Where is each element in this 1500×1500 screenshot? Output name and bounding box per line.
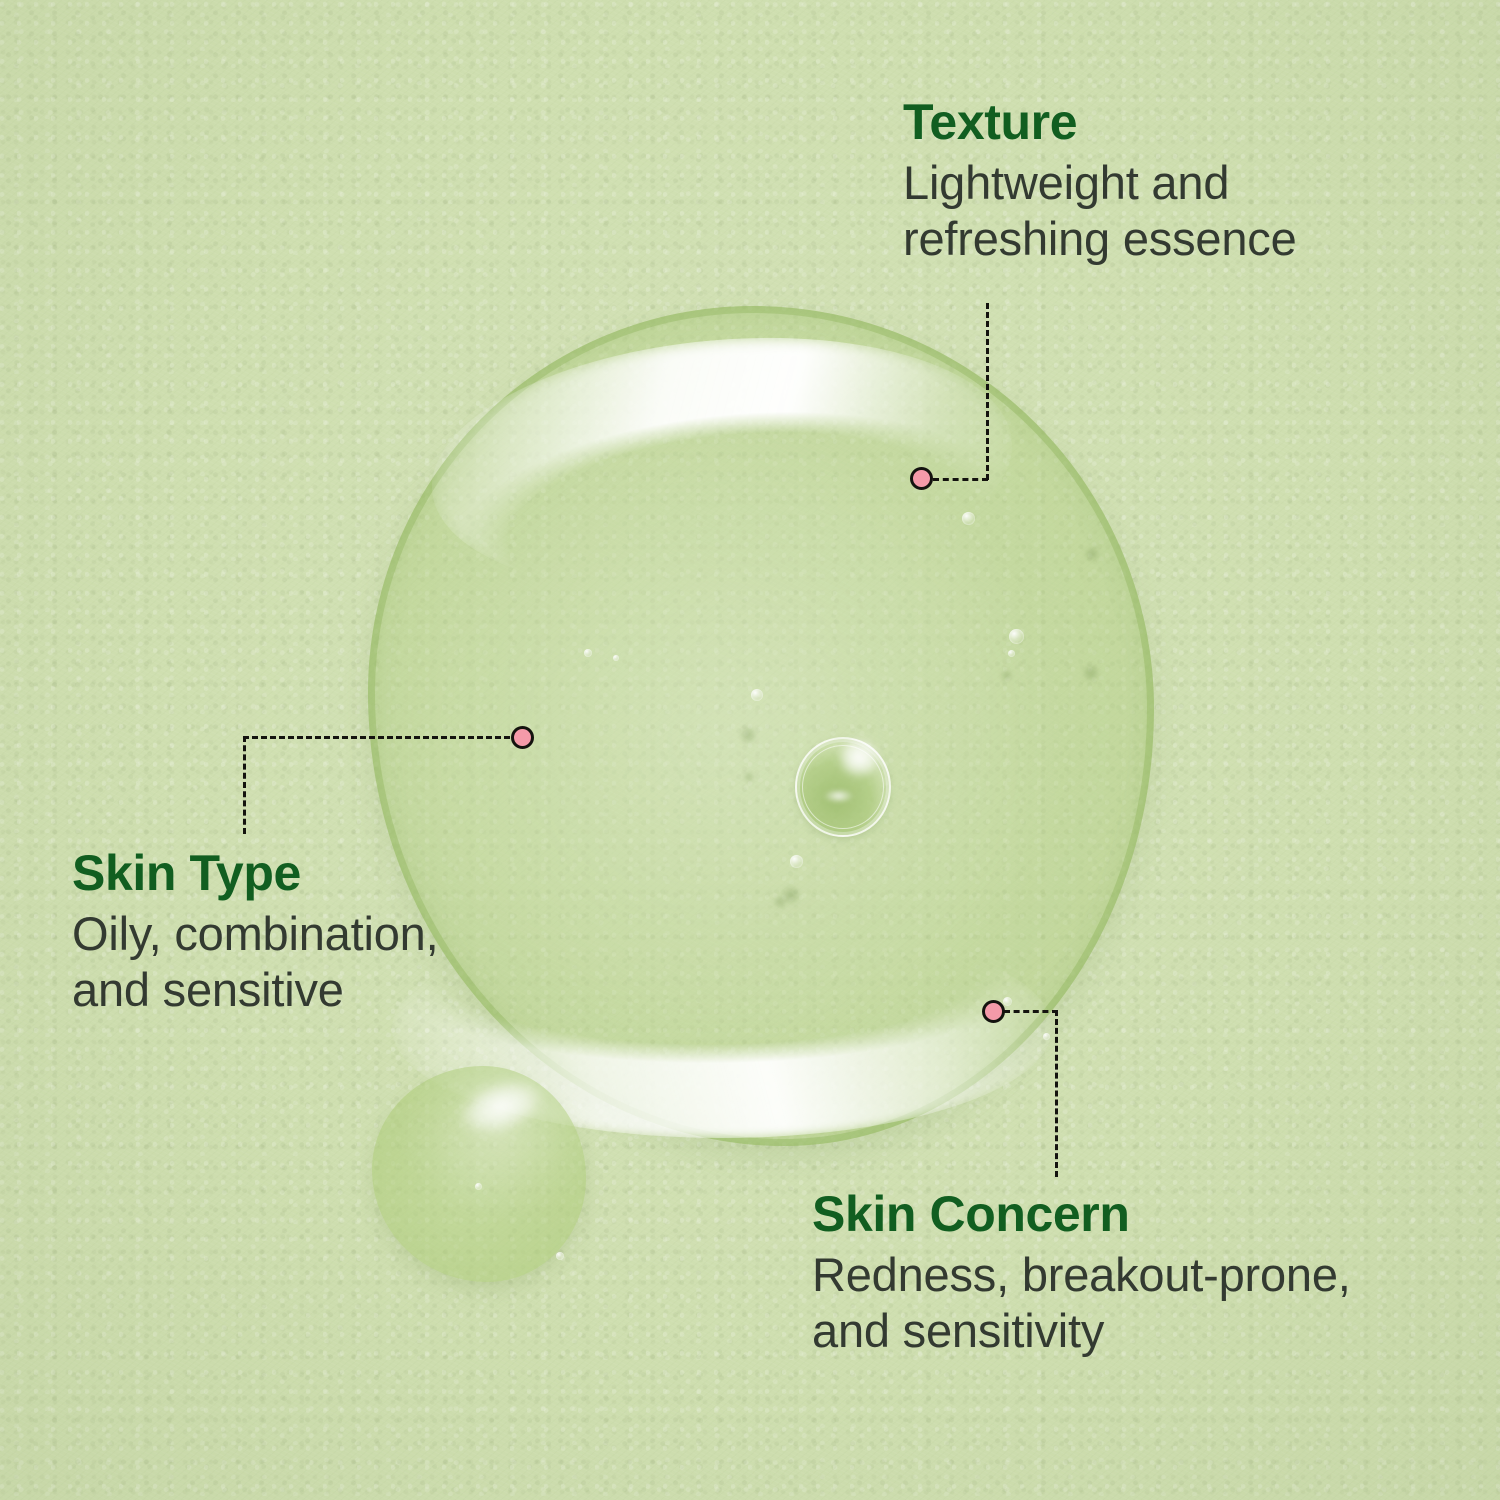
gel-top-gloss (421, 315, 1022, 617)
micro-bubble (1003, 997, 1012, 1006)
skin-type-leader-vertical (243, 736, 246, 834)
micro-bubble (790, 855, 803, 868)
bubble-highlight (839, 739, 879, 777)
gel-speck (782, 886, 800, 904)
skin-concern-leader-horizontal (1004, 1010, 1058, 1013)
texture-leader-vertical (986, 303, 989, 480)
bubble-inner-ring (802, 745, 884, 829)
small-gel-droplet (372, 1066, 586, 1282)
gel-bottom-glow (392, 919, 1052, 1137)
gel-speck (1083, 665, 1099, 681)
skin-type-leader-horizontal (243, 736, 519, 739)
gel-speck (744, 772, 754, 782)
skin-concern-marker[interactable] (982, 1000, 1005, 1023)
callout-skin-concern-title: Skin Concern (812, 1188, 1351, 1241)
gel-speck (740, 727, 756, 743)
micro-bubble (962, 512, 975, 525)
callout-skin-type-description: Oily, combination, and sensitive (72, 906, 438, 1019)
callout-skin-concern-description: Redness, breakout-prone, and sensitivity (812, 1247, 1351, 1360)
small-gel-body (372, 1066, 586, 1282)
micro-bubble (751, 689, 763, 701)
air-bubble (795, 737, 891, 837)
gel-speck (774, 896, 786, 908)
small-gel-specular (452, 1071, 548, 1143)
micro-bubble (613, 655, 619, 661)
gel-edge-shading (368, 306, 1154, 1146)
infographic-canvas: Texture Lightweight and refreshing essen… (0, 0, 1500, 1500)
bubble-outer-ring (795, 737, 891, 837)
micro-bubble (1043, 1033, 1050, 1040)
gel-body (368, 306, 1154, 1146)
gel-speck (1085, 547, 1099, 561)
gel-rim-highlight (368, 306, 1154, 1146)
bubble-highlight-2 (824, 789, 853, 803)
micro-bubble (1009, 629, 1024, 644)
small-gel-rim-highlight (372, 1066, 586, 1282)
micro-bubble (1008, 650, 1015, 657)
micro-bubble (584, 649, 592, 657)
callout-texture-description: Lightweight and refreshing essence (903, 155, 1297, 268)
callout-texture: Texture Lightweight and refreshing essen… (903, 96, 1297, 268)
callout-skin-type: Skin Type Oily, combination, and sensiti… (72, 847, 438, 1019)
skin-concern-leader-vertical (1055, 1010, 1058, 1177)
gel-speck (1001, 670, 1012, 681)
callout-skin-concern: Skin Concern Redness, breakout-prone, an… (812, 1188, 1351, 1360)
micro-bubble (475, 1183, 482, 1190)
callout-skin-type-title: Skin Type (72, 847, 438, 900)
callout-texture-title: Texture (903, 96, 1297, 149)
micro-bubble (556, 1252, 564, 1260)
large-gel-droplet (368, 306, 1154, 1146)
texture-leader-horizontal (933, 478, 988, 481)
skin-type-marker[interactable] (511, 726, 534, 749)
texture-marker[interactable] (910, 467, 933, 490)
